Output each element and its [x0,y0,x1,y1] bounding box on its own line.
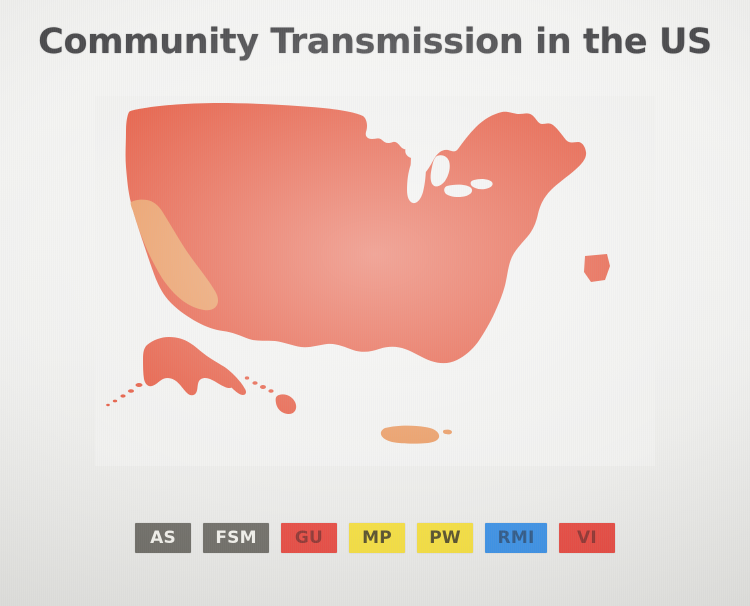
transmission-legend: AS FSM GU MP PW RMI VI [0,523,750,553]
us-choropleth-map [95,96,655,466]
legend-badge-vi[interactable]: VI [559,523,615,553]
legend-badge-as[interactable]: AS [135,523,191,553]
legend-badge-gu[interactable]: GU [281,523,337,553]
lake-erie [444,185,472,197]
screenshot-root: Community Transmission in the US [0,0,750,606]
legend-badge-pw[interactable]: PW [417,523,473,553]
map-svg [95,96,655,466]
region-puerto-rico [381,426,439,444]
legend-badge-mp[interactable]: MP [349,523,405,553]
legend-badge-fsm[interactable]: FSM [203,523,269,553]
page-title: Community Transmission in the US [0,22,750,62]
legend-badge-rmi[interactable]: RMI [485,523,547,553]
